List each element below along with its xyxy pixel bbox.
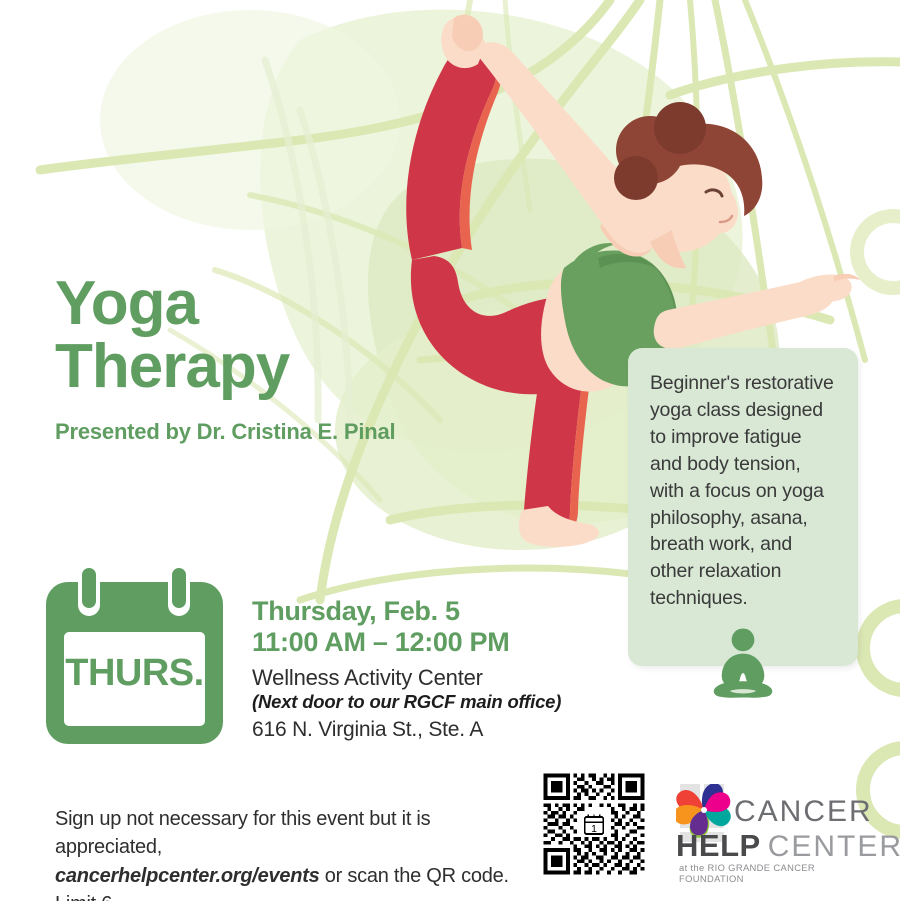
events-url-link[interactable]: cancerhelpcenter.org/events (55, 865, 319, 887)
event-date: Thursday, Feb. 5 (252, 596, 592, 627)
event-time: 11:00 AM – 12:00 PM (252, 627, 592, 658)
event-details-block: Thursday, Feb. 5 11:00 AM – 12:00 PM Wel… (252, 596, 592, 744)
logo-word-center: CENTER (768, 830, 900, 864)
logo-tagline: at the RIO GRANDE CANCER FOUNDATION (679, 862, 866, 884)
footer-line-2: cancerhelpcenter.org/events or scan the … (55, 862, 525, 890)
logo-cancer-text: CANCER (734, 798, 873, 826)
event-venue: Wellness Activity Center (252, 664, 592, 692)
footer-line-2-rest: or scan the QR code. (319, 865, 508, 887)
qr-code[interactable]: 1 (540, 770, 648, 878)
logo-second-row: HELP CENTER (676, 828, 900, 864)
page-title-line2: Therapy (55, 338, 395, 397)
footer-note: Sign up not necessary for this event but… (55, 805, 525, 901)
logo-word-help: HELP (676, 828, 761, 864)
logo-word-cancer: CANCER (734, 798, 873, 826)
cancer-help-center-logo: CANCER HELP CENTER at the RIO GRANDE CAN… (676, 784, 866, 884)
event-venue-note: (Next door to our RGCF main office) (252, 691, 592, 713)
description-card: Beginner's restorative yoga class design… (628, 348, 858, 666)
page-title-line1: Yoga (55, 275, 395, 334)
footer-line-1: Sign up not necessary for this event but… (55, 805, 525, 862)
calendar-day-label: THURS. (42, 560, 227, 750)
yoga-therapy-flyer: Yoga Therapy Presented by Dr. Cristina E… (0, 0, 900, 901)
footer-line-3: Limit 6. (55, 890, 525, 901)
lotus-meditation-icon (702, 626, 784, 704)
headline-block: Yoga Therapy Presented by Dr. Cristina E… (55, 275, 395, 445)
event-address: 616 N. Virginia St., Ste. A (252, 716, 592, 743)
presenter-line: Presented by Dr. Cristina E. Pinal (55, 419, 395, 445)
calendar-icon: THURS. (42, 560, 227, 750)
description-text: Beginner's restorative yoga class design… (650, 370, 838, 612)
svg-text:1: 1 (591, 824, 597, 835)
